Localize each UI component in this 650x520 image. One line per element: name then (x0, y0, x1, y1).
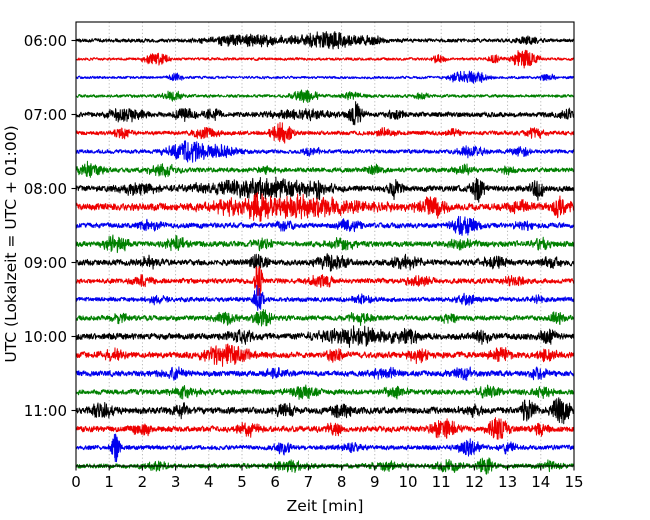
x-tick-label: 10 (398, 473, 417, 491)
x-tick-label: 8 (337, 473, 347, 491)
x-tick-group: 0123456789101112131415 (71, 466, 583, 491)
x-tick-label: 11 (432, 473, 451, 491)
x-tick-label: 0 (71, 473, 81, 491)
x-tick-label: 15 (564, 473, 583, 491)
x-tick-label: 3 (171, 473, 181, 491)
y-tick-label: 11:00 (24, 402, 67, 420)
x-tick-label: 13 (498, 473, 517, 491)
x-tick-label: 14 (531, 473, 550, 491)
helicorder-plot: 0123456789101112131415 06:0007:0008:0009… (0, 0, 650, 520)
y-tick-label: 07:00 (24, 106, 67, 124)
x-tick-label: 7 (304, 473, 314, 491)
x-tick-label: 1 (104, 473, 114, 491)
x-tick-label: 2 (138, 473, 148, 491)
y-tick-label: 10:00 (24, 328, 67, 346)
y-tick-label: 08:00 (24, 180, 67, 198)
x-tick-label: 4 (204, 473, 214, 491)
y-tick-label: 09:00 (24, 254, 67, 272)
y-tick-label: 06:00 (24, 32, 67, 50)
x-tick-label: 9 (370, 473, 380, 491)
y-tick-group: 06:0007:0008:0009:0010:0011:00 (24, 32, 76, 420)
x-tick-label: 5 (237, 473, 247, 491)
x-tick-label: 6 (270, 473, 280, 491)
x-tick-label: 12 (465, 473, 484, 491)
x-axis-label: Zeit [min] (287, 497, 364, 515)
seismogram-figure: 0123456789101112131415 06:0007:0008:0009… (0, 0, 650, 520)
y-axis-label: UTC (Lokalzeit = UTC + 01:00) (2, 125, 20, 362)
